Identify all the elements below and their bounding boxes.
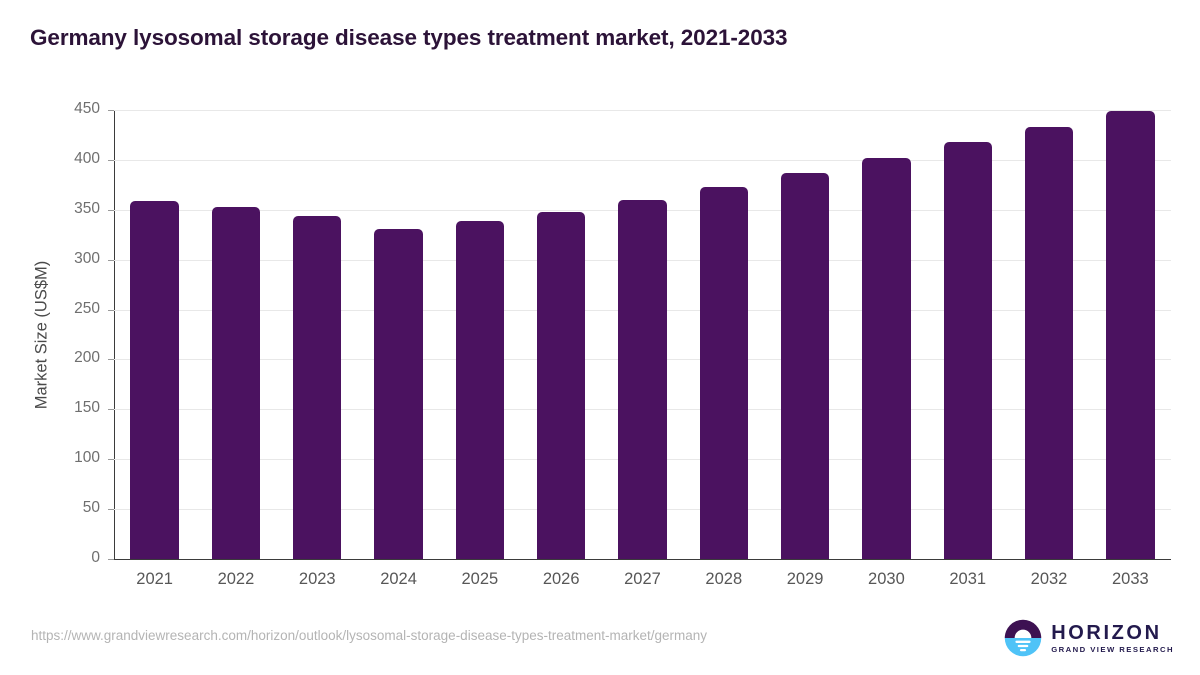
y-axis-title-container: Market Size (US$M) — [30, 110, 54, 559]
y-axis-tick-mark — [108, 459, 114, 460]
y-axis-tick-label: 350 — [0, 200, 100, 218]
x-axis-tick-label: 2029 — [764, 570, 845, 589]
y-axis-tick-mark — [108, 509, 114, 510]
x-axis-tick-label: 2031 — [927, 570, 1008, 589]
x-axis-tick-label: 2023 — [277, 570, 358, 589]
y-axis-tick-mark — [108, 559, 114, 560]
bar[interactable] — [1106, 111, 1154, 559]
x-axis-tick-label: 2030 — [846, 570, 927, 589]
x-axis-tick-label: 2021 — [114, 570, 195, 589]
y-axis-tick-label: 250 — [0, 300, 100, 318]
y-axis-tick-mark — [108, 310, 114, 311]
gridline — [114, 160, 1171, 161]
horizon-logo[interactable]: HORIZON GRAND VIEW RESEARCH — [1004, 618, 1174, 658]
bar[interactable] — [212, 207, 260, 559]
y-axis-tick-label: 100 — [0, 449, 100, 467]
logo-tagline: GRAND VIEW RESEARCH — [1051, 646, 1174, 654]
y-axis-tick-label: 200 — [0, 349, 100, 367]
y-axis-tick-mark — [108, 160, 114, 161]
y-axis-tick-mark — [108, 359, 114, 360]
bar[interactable] — [700, 187, 748, 559]
x-axis-tick-label: 2024 — [358, 570, 439, 589]
bar[interactable] — [293, 216, 341, 559]
bar[interactable] — [862, 158, 910, 559]
y-axis-tick-label: 400 — [0, 150, 100, 168]
x-axis-tick-label: 2028 — [683, 570, 764, 589]
y-axis-tick-mark — [108, 110, 114, 111]
bar[interactable] — [130, 201, 178, 559]
horizon-logo-icon — [1004, 619, 1042, 657]
x-axis-tick-label: 2022 — [195, 570, 276, 589]
bar[interactable] — [618, 200, 666, 559]
y-axis-tick-mark — [108, 210, 114, 211]
y-axis-tick-label: 450 — [0, 100, 100, 118]
plot-area — [114, 110, 1171, 559]
bar[interactable] — [1025, 127, 1073, 559]
x-axis-tick-label: 2033 — [1090, 570, 1171, 589]
page-title: Germany lysosomal storage disease types … — [30, 25, 787, 51]
y-axis-tick-label: 50 — [0, 499, 100, 517]
bar[interactable] — [537, 212, 585, 559]
y-axis-tick-label: 150 — [0, 399, 100, 417]
horizon-logo-text: HORIZON GRAND VIEW RESEARCH — [1051, 623, 1174, 654]
bar[interactable] — [374, 229, 422, 559]
y-axis-title: Market Size (US$M) — [33, 260, 52, 409]
x-axis-tick-label: 2027 — [602, 570, 683, 589]
source-url[interactable]: https://www.grandviewresearch.com/horizo… — [31, 628, 707, 643]
bar[interactable] — [944, 142, 992, 559]
bar[interactable] — [781, 173, 829, 559]
y-axis-tick-label: 300 — [0, 250, 100, 268]
y-axis-tick-label: 0 — [0, 549, 100, 567]
y-axis-tick-mark — [108, 409, 114, 410]
bar[interactable] — [456, 221, 504, 559]
logo-wordmark: HORIZON — [1051, 623, 1174, 643]
chart-card: Germany lysosomal storage disease types … — [0, 0, 1200, 675]
y-axis-tick-mark — [108, 260, 114, 261]
x-axis-tick-label: 2025 — [439, 570, 520, 589]
x-axis-tick-label: 2026 — [521, 570, 602, 589]
x-axis-tick-label: 2032 — [1008, 570, 1089, 589]
gridline — [114, 110, 1171, 111]
